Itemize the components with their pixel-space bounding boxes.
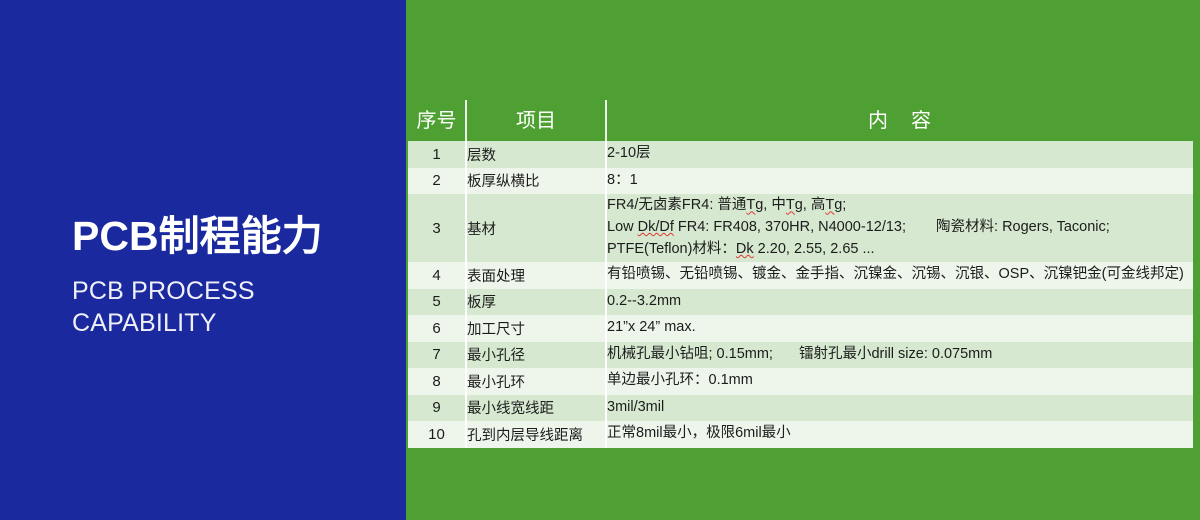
content-line-3: PTFE(Teflon)材料：Dk 2.20, 2.55, 2.65 ...	[607, 239, 1193, 261]
column-header-item: 项目	[466, 100, 606, 141]
cell-no: 1	[408, 141, 466, 168]
table-row: 10 孔到内层导线距离 正常8mil最小，极限6mil最小	[408, 421, 1193, 448]
table-row: 4 表面处理 有铅喷锡、无铅喷锡、镀金、金手指、沉镍金、沉锡、沉银、OSP、沉镍…	[408, 262, 1193, 289]
table-row: 8 最小孔环 单边最小孔环：0.1mm	[408, 368, 1193, 395]
content-text-tg1: Tg	[746, 197, 763, 213]
page-title-en-line2: CAPABILITY	[72, 307, 402, 339]
column-header-content: 内容	[606, 100, 1193, 141]
cell-no: 4	[408, 262, 466, 289]
page-title-en: PCB PROCESS CAPABILITY	[72, 275, 402, 339]
column-header-content-char1: 内	[868, 110, 889, 132]
cell-item: 最小孔环	[466, 368, 606, 395]
column-header-no: 序号	[408, 100, 466, 141]
content-text-tg2: Tg	[786, 197, 803, 213]
pcb-capability-table: 序号 项目 内容 1 层数 2-10层 2 板厚纵横比 8：1	[408, 100, 1193, 448]
table-row: 7 最小孔径 机械孔最小钻咀; 0.15mm;镭射孔最小drill size: …	[408, 342, 1193, 369]
cell-item: 加工尺寸	[466, 315, 606, 342]
left-title-panel: PCB制程能力 PCB PROCESS CAPABILITY	[0, 0, 406, 520]
column-header-content-char2: 容	[911, 110, 932, 132]
content-text: , 高	[803, 197, 826, 213]
page-title-en-line1: PCB PROCESS	[72, 275, 402, 307]
table-row: 9 最小线宽线距 3mil/3mil	[408, 395, 1193, 422]
content-line-2: Low Dk/Df FR4: FR408, 370HR, N4000-12/13…	[607, 217, 1193, 239]
slide-root: PCB制程能力 PCB PROCESS CAPABILITY 序号 项目 内容	[0, 0, 1200, 520]
cell-no: 7	[408, 342, 466, 369]
cell-content: FR4/无卤素FR4: 普通Tg, 中Tg, 高Tg; Low Dk/Df FR…	[606, 194, 1193, 262]
cell-no: 10	[408, 421, 466, 448]
table-row: 3 基材 FR4/无卤素FR4: 普通Tg, 中Tg, 高Tg; Low Dk/…	[408, 194, 1193, 262]
cell-item: 层数	[466, 141, 606, 168]
cell-content: 2-10层	[606, 141, 1193, 168]
cell-item: 基材	[466, 194, 606, 262]
cell-content: 21”x 24” max.	[606, 315, 1193, 342]
content-line-1: FR4/无卤素FR4: 普通Tg, 中Tg, 高Tg;	[607, 195, 1193, 217]
cell-no: 3	[408, 194, 466, 262]
cell-no: 8	[408, 368, 466, 395]
cell-no: 9	[408, 395, 466, 422]
cell-item: 最小线宽线距	[466, 395, 606, 422]
content-text-mech: 机械孔最小钻咀; 0.15mm;	[607, 346, 773, 362]
cell-content: 单边最小孔环：0.1mm	[606, 368, 1193, 395]
cell-no: 2	[408, 168, 466, 195]
content-text-dk: Dk	[736, 241, 754, 257]
content-text-tg3: Tg	[825, 197, 842, 213]
cell-content: 8：1	[606, 168, 1193, 195]
cell-content: 机械孔最小钻咀; 0.15mm;镭射孔最小drill size: 0.075mm	[606, 342, 1193, 369]
cell-no: 5	[408, 289, 466, 316]
content-text: PTFE(Teflon)材料：	[607, 241, 736, 257]
cell-content: 0.2--3.2mm	[606, 289, 1193, 316]
page-title-cn: PCB制程能力	[72, 215, 402, 258]
content-text: ;	[842, 197, 846, 213]
cell-content: 有铅喷锡、无铅喷锡、镀金、金手指、沉镍金、沉锡、沉银、OSP、沉镍钯金(可金线邦…	[606, 262, 1193, 289]
table-header-row: 序号 项目 内容	[408, 100, 1193, 141]
content-text: 2.20, 2.55, 2.65 ...	[754, 241, 875, 257]
table-header: 序号 项目 内容	[408, 100, 1193, 141]
cell-no: 6	[408, 315, 466, 342]
cell-item: 孔到内层导线距离	[466, 421, 606, 448]
content-text-dkdf: Dk/Df	[638, 219, 674, 235]
cell-content: 正常8mil最小，极限6mil最小	[606, 421, 1193, 448]
cell-item: 板厚纵横比	[466, 168, 606, 195]
spec-table-wrapper: 序号 项目 内容 1 层数 2-10层 2 板厚纵横比 8：1	[408, 100, 1193, 446]
content-text-ceramic: 陶瓷材料: Rogers, Taconic;	[936, 219, 1110, 235]
cell-item: 最小孔径	[466, 342, 606, 369]
content-text: Low	[607, 219, 638, 235]
content-text: FR4: FR408, 370HR, N4000-12/13;	[674, 219, 906, 235]
table-row: 1 层数 2-10层	[408, 141, 1193, 168]
content-text: FR4/无卤素FR4: 普通	[607, 197, 746, 213]
cell-content: 3mil/3mil	[606, 395, 1193, 422]
cell-item: 表面处理	[466, 262, 606, 289]
table-row: 5 板厚 0.2--3.2mm	[408, 289, 1193, 316]
content-text: , 中	[763, 197, 786, 213]
table-body: 1 层数 2-10层 2 板厚纵横比 8：1 3 基材 FR4/无卤素FR4: …	[408, 141, 1193, 448]
content-text-laser: 镭射孔最小drill size: 0.075mm	[799, 346, 992, 362]
table-row: 6 加工尺寸 21”x 24” max.	[408, 315, 1193, 342]
table-row: 2 板厚纵横比 8：1	[408, 168, 1193, 195]
cell-item: 板厚	[466, 289, 606, 316]
title-block: PCB制程能力 PCB PROCESS CAPABILITY	[72, 215, 402, 339]
